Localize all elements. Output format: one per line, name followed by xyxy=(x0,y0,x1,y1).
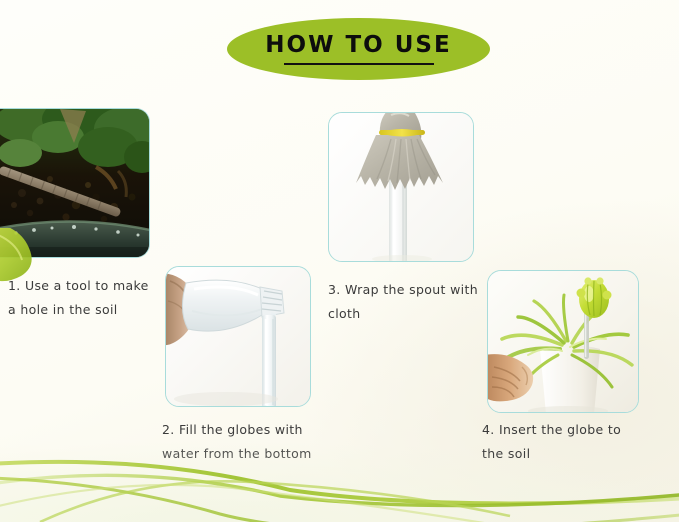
step-2-caption: 2. Fill the globes with water from the b… xyxy=(162,418,332,467)
page-title-text: HOW TO USE xyxy=(227,34,490,57)
photo-wrapping-spout-with-cloth xyxy=(328,112,474,262)
cloth-wrap-graphic xyxy=(329,113,474,262)
page-title: HOW TO USE xyxy=(227,18,490,80)
photo-filling-globe-with-water xyxy=(165,266,311,407)
filling-water-graphic xyxy=(166,267,311,407)
photo-tool-making-hole-in-soil xyxy=(0,108,150,258)
photo-inserting-globe-into-soil xyxy=(487,270,639,413)
insert-globe-graphic xyxy=(488,271,639,413)
step-4-caption: 4. Insert the globe to the soil xyxy=(482,418,642,467)
step-3-caption: 3. Wrap the spout with cloth xyxy=(328,278,488,327)
title-underline xyxy=(284,63,434,65)
soil-photo-graphic xyxy=(0,109,150,258)
how-to-use-infographic: HOW TO USE xyxy=(0,0,679,522)
step-1-caption: 1. Use a tool to make a hole in the soil xyxy=(8,274,158,323)
